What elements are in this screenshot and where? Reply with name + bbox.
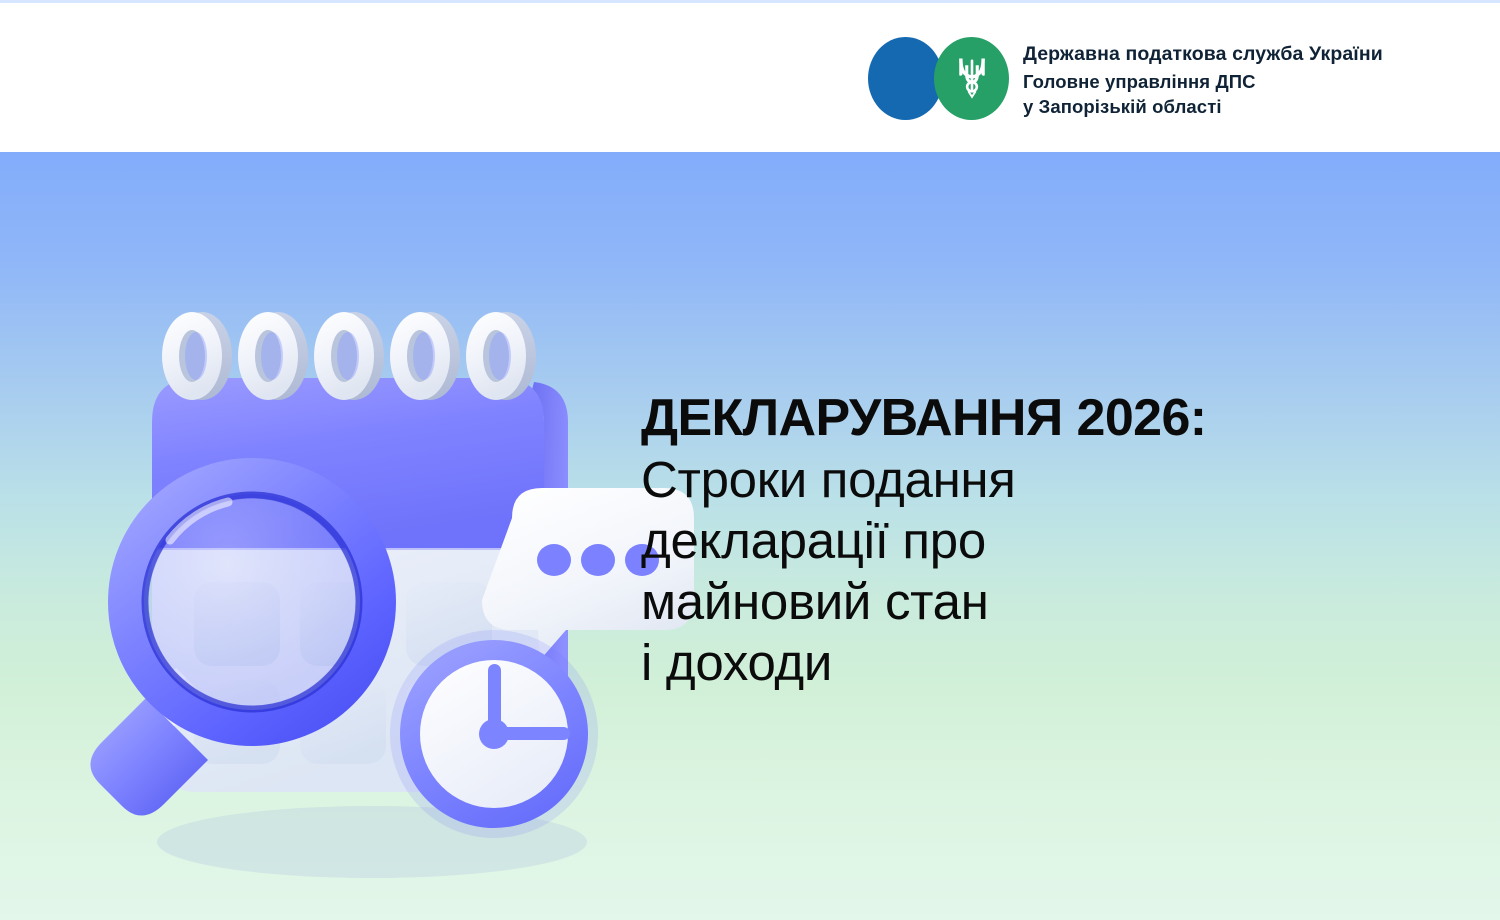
org-name-line-1: Державна податкова служба України: [1023, 39, 1383, 69]
headline-line-1: ДЕКЛАРУВАННЯ 2026:: [641, 388, 1341, 449]
ukraine-trident-icon: [956, 55, 988, 102]
org-name-line-3: у Запорізькій області: [1023, 94, 1383, 119]
calendar-binder-rings: [162, 312, 536, 400]
clock-icon: [390, 630, 598, 838]
binder-ring: [162, 312, 232, 400]
banner-page: Державна податкова служба України Головн…: [0, 0, 1500, 920]
brand-block: Державна податкова служба України Головн…: [868, 37, 1383, 120]
org-name-line-2: Головне управління ДПС: [1023, 69, 1383, 94]
site-header: Державна податкова служба України Головн…: [0, 3, 1500, 152]
headline-line-2: Строки подання: [641, 449, 1341, 510]
headline-line-3: декларації про: [641, 510, 1341, 571]
binder-ring: [390, 312, 460, 400]
headline-line-4: майновий стан: [641, 571, 1341, 632]
brand-text-block: Державна податкова служба України Головн…: [1023, 37, 1383, 119]
logo-blue-circle-icon: [868, 37, 943, 120]
dps-logo: [868, 37, 1009, 120]
headline-block: ДЕКЛАРУВАННЯ 2026: Строки подання деклар…: [641, 388, 1341, 693]
headline-line-5: і доходи: [641, 632, 1341, 693]
binder-ring: [314, 312, 384, 400]
calendar-magnifier-clock-illustration: [42, 282, 702, 902]
clock-center-pin: [479, 719, 509, 749]
banner-stage: ДЕКЛАРУВАННЯ 2026: Строки подання деклар…: [0, 152, 1500, 920]
binder-ring: [238, 312, 308, 400]
binder-ring: [466, 312, 536, 400]
